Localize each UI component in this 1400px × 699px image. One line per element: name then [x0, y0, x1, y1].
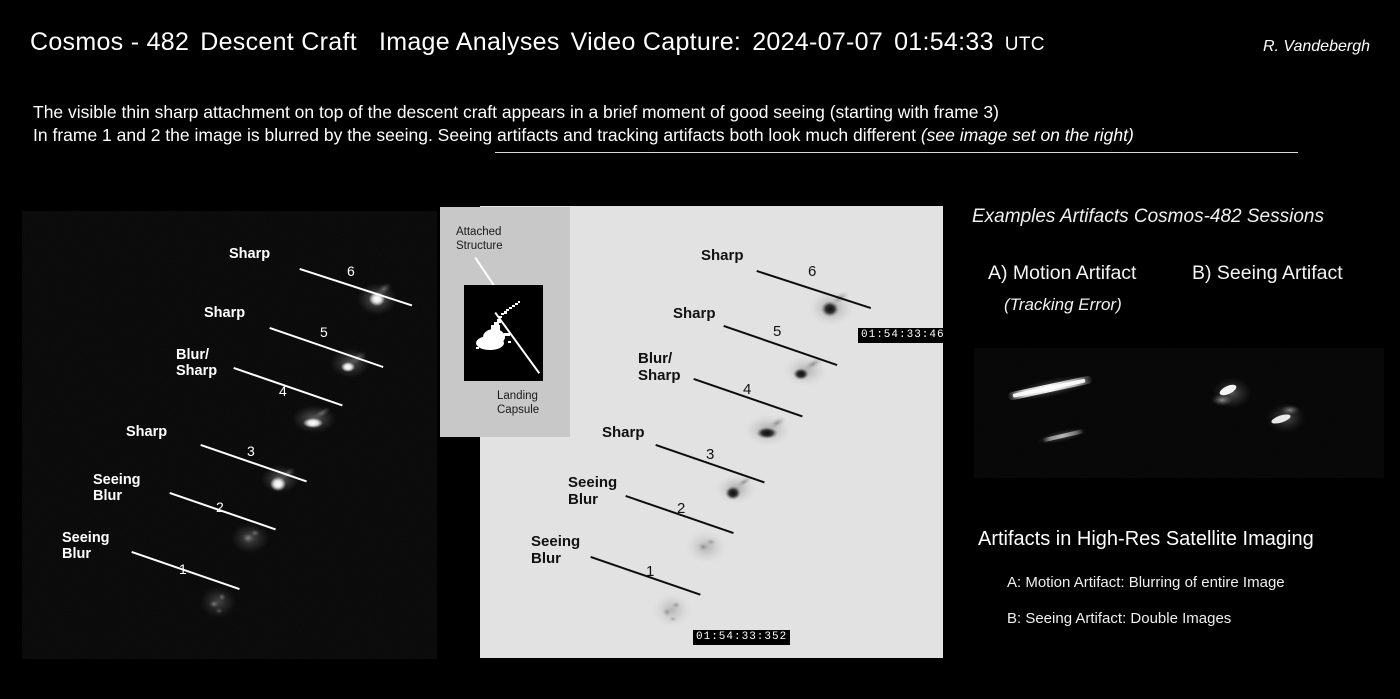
title-analysis: Image Analyses: [379, 28, 560, 56]
positive-image-panel: Sharp 6 Sharp 5 Blur/Sharp 4 Sharp 3 See…: [22, 211, 437, 659]
inset-craft-render: [464, 285, 543, 381]
center-label-frame-4: Blur/Sharp: [638, 351, 681, 385]
title-object: Cosmos - 482: [30, 28, 189, 56]
artifact-note-b: B: Seeing Artifact: Double Images: [1007, 610, 1231, 627]
timestamp-top: 01:54:33:465: [858, 328, 943, 343]
center-label-frame-1: SeeingBlur: [531, 534, 580, 568]
left-number-4: 4: [279, 383, 287, 399]
detail-inset-panel: AttachedStructure LandingCapsule: [440, 207, 570, 437]
left-number-2: 2: [216, 499, 224, 515]
left-number-1: 1: [179, 561, 187, 577]
left-number-3: 3: [247, 443, 255, 459]
left-label-frame-2: SeeingBlur: [93, 472, 141, 504]
artifact-note-a: A: Motion Artifact: Blurring of entire I…: [1007, 574, 1285, 591]
title-capture-label: Video Capture:: [571, 28, 742, 56]
left-label-frame-4: Blur/Sharp: [176, 347, 217, 379]
title-craft: Descent Craft: [200, 28, 357, 56]
examples-title: Examples Artifacts Cosmos-482 Sessions: [972, 206, 1324, 228]
left-number-5: 5: [320, 324, 328, 340]
artifact-render: [974, 348, 1384, 478]
artifact-example-images: [974, 348, 1384, 478]
inset-label-landing-capsule: LandingCapsule: [497, 389, 539, 417]
timestamp-bottom: 01:54:33:352: [693, 630, 790, 645]
artifact-a-subtitle: (Tracking Error): [1004, 295, 1122, 315]
subtitle-line-2: In frame 1 and 2 the image is blurred by…: [33, 124, 1134, 147]
center-label-frame-3: Sharp: [602, 425, 645, 442]
center-label-frame-5: Sharp: [673, 306, 716, 323]
center-number-5: 5: [773, 323, 781, 340]
inset-label-attached-structure: AttachedStructure: [456, 225, 503, 253]
left-label-frame-5: Sharp: [204, 305, 245, 321]
subtitle-line-1: The visible thin sharp attachment on top…: [33, 101, 1134, 124]
title-timezone: UTC: [1005, 34, 1045, 55]
inset-thumbnail-image: [464, 285, 543, 381]
left-label-frame-6: Sharp: [229, 246, 270, 262]
center-label-frame-2: SeeingBlur: [568, 475, 617, 509]
center-number-6: 6: [808, 263, 816, 280]
positive-sky-render: [22, 211, 437, 659]
subtitle-underline: [495, 152, 1298, 153]
title-time: 01:54:33: [894, 28, 994, 56]
center-number-2: 2: [677, 500, 685, 517]
subtitle-line-2-text: In frame 1 and 2 the image is blurred by…: [33, 125, 921, 145]
left-label-frame-1: SeeingBlur: [62, 530, 110, 562]
center-number-1: 1: [646, 563, 654, 580]
left-number-6: 6: [347, 263, 355, 279]
artifact-a-title: A) Motion Artifact: [988, 262, 1136, 285]
left-label-frame-3: Sharp: [126, 424, 167, 440]
center-number-4: 4: [743, 381, 751, 398]
title-date: 2024-07-07: [752, 28, 883, 56]
artifacts-sidebar: Examples Artifacts Cosmos-482 Sessions A…: [960, 200, 1390, 660]
center-label-frame-6: Sharp: [701, 248, 744, 265]
author-credit: R. Vandebergh: [1263, 38, 1370, 56]
subtitle-block: The visible thin sharp attachment on top…: [33, 101, 1134, 147]
subtitle-line-2-italic: (see image set on the right): [921, 125, 1134, 145]
center-number-3: 3: [706, 446, 714, 463]
page-title: Cosmos - 482Descent CraftImage AnalysesV…: [30, 28, 1045, 57]
artifact-b-title: B) Seeing Artifact: [1192, 262, 1343, 285]
artifacts-heading: Artifacts in High-Res Satellite Imaging: [978, 528, 1314, 551]
